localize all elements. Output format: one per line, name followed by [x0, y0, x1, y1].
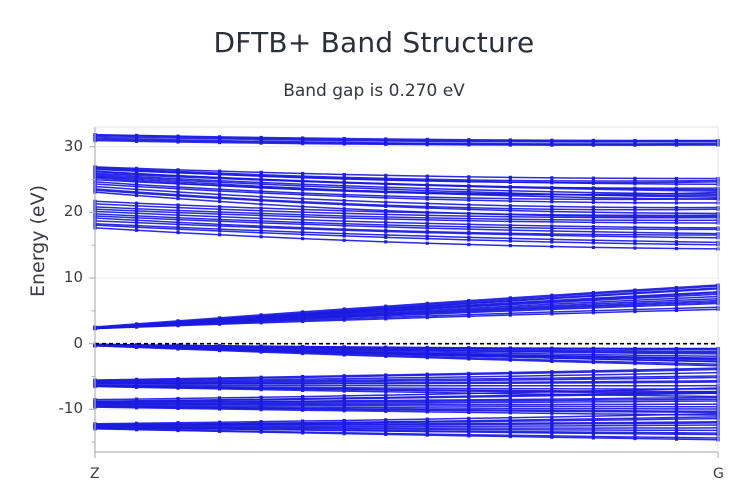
band-kpoint-marker [675, 367, 678, 370]
band-kpoint-marker [550, 198, 553, 201]
band-kpoint-marker [260, 225, 263, 228]
band-kpoint-marker [675, 187, 678, 190]
band-kpoint-marker [260, 195, 263, 198]
band-kpoint-marker [426, 393, 429, 396]
band-kpoint-marker [301, 191, 304, 194]
band-kpoint-marker [633, 397, 636, 400]
band-kpoint-marker [633, 214, 636, 217]
band-kpoint-marker [675, 372, 678, 375]
band-kpoint-marker [467, 206, 470, 209]
band-kpoint-marker [260, 217, 263, 220]
band-kpoint-marker [509, 237, 512, 240]
band-kpoint-marker [384, 373, 387, 376]
band-kpoint-marker [384, 204, 387, 207]
band-kpoint-marker [260, 376, 263, 379]
band-kpoint-marker [592, 186, 595, 189]
band-kpoint-marker [633, 347, 636, 350]
band-kpoint-marker [260, 229, 263, 232]
band-kpoint-marker [509, 207, 512, 210]
band-kpoint-marker [384, 182, 387, 185]
band-kpoint-marker [260, 190, 263, 193]
band-kpoint-marker [176, 174, 179, 177]
band-kpoint-marker [550, 213, 553, 216]
band-kpoint-marker [301, 345, 304, 348]
band-kpoint-marker [384, 186, 387, 189]
band-structure-figure: DFTB+ Band Structure Band gap is 0.270 e… [0, 0, 748, 500]
band-kpoint-marker [218, 193, 221, 196]
band-kpoint-marker [426, 222, 429, 225]
band-kpoint-marker [550, 294, 553, 297]
band-kpoint-marker [675, 384, 678, 387]
band-kpoint-marker [343, 346, 346, 349]
band-kpoint-marker [467, 188, 470, 191]
band-kpoint-marker [384, 305, 387, 308]
band-kpoint-marker [509, 394, 512, 397]
band-kpoint-marker [218, 184, 221, 187]
band-kpoint-marker [176, 197, 179, 200]
band-kpoint-marker [176, 344, 179, 347]
band-kpoint-marker [675, 231, 678, 234]
band-kpoint-marker [633, 288, 636, 291]
band-kpoint-marker [301, 208, 304, 211]
band-kpoint-marker [135, 397, 138, 400]
band-kpoint-marker [550, 224, 553, 227]
band-kpoint-marker [633, 435, 636, 438]
band-kpoint-marker [426, 418, 429, 421]
band-kpoint-marker [467, 196, 470, 199]
band-kpoint-marker [384, 201, 387, 204]
band-kpoint-marker [509, 189, 512, 192]
band-kpoint-marker [343, 209, 346, 212]
band-kpoint-marker [384, 177, 387, 180]
band-kpoint-marker [301, 197, 304, 200]
band-kpoint-marker [176, 221, 179, 224]
band-kpoint-marker [467, 243, 470, 246]
band-kpoint-marker [675, 307, 678, 310]
band-kpoint-marker [592, 397, 595, 400]
band-kpoint-marker [260, 186, 263, 189]
band-kpoint-marker [550, 370, 553, 373]
band-kpoint-marker [301, 205, 304, 208]
band-kpoint-marker [218, 205, 221, 208]
band-kpoint-marker [675, 436, 678, 439]
band-kpoint-marker [426, 235, 429, 238]
band-kpoint-marker [509, 138, 512, 141]
band-kpoint-marker [633, 239, 636, 242]
band-kpoint-marker [343, 193, 346, 196]
band-kpoint-marker [384, 210, 387, 213]
band-kpoint-marker [426, 230, 429, 233]
band-kpoint-marker [384, 137, 387, 140]
band-kpoint-marker [550, 190, 553, 193]
band-kpoint-marker [592, 435, 595, 438]
band-kpoint-marker [675, 396, 678, 399]
band-kpoint-marker [218, 135, 221, 138]
band-kpoint-marker [467, 184, 470, 187]
band-kpoint-marker [675, 413, 678, 416]
band-kpoint-marker [176, 182, 179, 185]
band-kpoint-marker [467, 203, 470, 206]
band-kpoint-marker [260, 198, 263, 201]
band-gap-subtitle: Band gap is 0.270 eV [0, 81, 748, 101]
band-kpoint-marker [426, 138, 429, 141]
band-kpoint-marker [509, 185, 512, 188]
band-kpoint-marker [675, 139, 678, 142]
y-tick-label: 0 [43, 334, 83, 352]
band-kpoint-marker [592, 376, 595, 379]
band-kpoint-marker [633, 177, 636, 180]
band-kpoint-marker [135, 322, 138, 325]
band-kpoint-marker [218, 376, 221, 379]
band-kpoint-marker [343, 394, 346, 397]
band-kpoint-marker [467, 192, 470, 195]
band-kpoint-marker [633, 417, 636, 420]
band-kpoint-marker [633, 380, 636, 383]
band-kpoint-marker [176, 135, 179, 138]
band-kpoint-marker [633, 139, 636, 142]
band-kpoint-marker [550, 179, 553, 182]
x-tick-label-g: G [713, 466, 724, 482]
band-kpoint-marker [260, 203, 263, 206]
band-kpoint-marker [218, 176, 221, 179]
band-kpoint-marker [509, 232, 512, 235]
band-kpoint-marker [509, 213, 512, 216]
band-kpoint-marker [592, 225, 595, 228]
band-kpoint-marker [218, 227, 221, 230]
band-kpoint-marker [135, 422, 138, 425]
band-kpoint-marker [135, 378, 138, 381]
band-kpoint-marker [467, 175, 470, 178]
band-kpoint-marker [343, 419, 346, 422]
y-tick-label: 30 [43, 137, 83, 155]
band-kpoint-marker [550, 393, 553, 396]
band-kpoint-marker [509, 347, 512, 350]
band-kpoint-marker [467, 398, 470, 401]
band-kpoint-marker [509, 179, 512, 182]
band-kpoint-marker [467, 231, 470, 234]
band-kpoint-marker [343, 374, 346, 377]
band-kpoint-marker [260, 313, 263, 316]
band-kpoint-marker [509, 224, 512, 227]
band-kpoint-marker [633, 388, 636, 391]
band-kpoint-marker [467, 223, 470, 226]
band-kpoint-marker [426, 175, 429, 178]
band-kpoint-marker [301, 310, 304, 313]
band-kpoint-marker [176, 397, 179, 400]
band-kpoint-marker [467, 299, 470, 302]
band-kpoint-marker [176, 421, 179, 424]
band-kpoint-marker [426, 373, 429, 376]
band-kpoint-marker [675, 391, 678, 394]
band-kpoint-marker [633, 392, 636, 395]
band-kpoint-marker [176, 231, 179, 234]
band-kpoint-marker [467, 392, 470, 395]
band-kpoint-marker [633, 201, 636, 204]
band-kpoint-marker [301, 188, 304, 191]
band-kpoint-marker [343, 202, 346, 205]
band-kpoint-marker [675, 347, 678, 350]
band-kpoint-marker [135, 179, 138, 182]
band-kpoint-marker [592, 239, 595, 242]
band-kpoint-marker [176, 319, 179, 322]
band-kpoint-marker [426, 211, 429, 214]
band-kpoint-marker [633, 226, 636, 229]
band-kpoint-marker [384, 191, 387, 194]
band-kpoint-marker [135, 207, 138, 210]
band-kpoint-marker [675, 387, 678, 390]
band-kpoint-marker [301, 218, 304, 221]
band-kpoint-marker [260, 136, 263, 139]
band-kpoint-marker [426, 178, 429, 181]
band-kpoint-marker [509, 416, 512, 419]
band-kpoint-marker [550, 390, 553, 393]
band-kpoint-marker [301, 231, 304, 234]
band-kpoint-marker [592, 417, 595, 420]
band-kpoint-marker [467, 212, 470, 215]
band-kpoint-marker [135, 202, 138, 205]
band-kpoint-marker [384, 418, 387, 421]
band-kpoint-marker [343, 181, 346, 184]
band-kpoint-marker [176, 377, 179, 380]
band-kpoint-marker [633, 198, 636, 201]
band-kpoint-marker [592, 373, 595, 376]
band-kpoint-marker [384, 240, 387, 243]
band-kpoint-marker [260, 178, 263, 181]
band-kpoint-marker [592, 230, 595, 233]
band-kpoint-marker [550, 176, 553, 179]
band-kpoint-marker [509, 391, 512, 394]
band-kpoint-marker [675, 226, 678, 229]
band-kpoint-marker [509, 204, 512, 207]
band-kpoint-marker [135, 224, 138, 227]
band-kpoint-marker [384, 233, 387, 236]
band-kpoint-marker [633, 246, 636, 249]
band-kpoint-marker [301, 419, 304, 422]
band-kpoint-marker [675, 375, 678, 378]
band-kpoint-marker [509, 296, 512, 299]
band-kpoint-marker [550, 245, 553, 248]
band-kpoint-marker [218, 210, 221, 213]
band-kpoint-marker [343, 190, 346, 193]
band-kpoint-marker [550, 232, 553, 235]
band-kpoint-marker [426, 192, 429, 195]
plot-canvas [0, 0, 748, 500]
band-kpoint-marker [675, 192, 678, 195]
band-kpoint-marker [384, 221, 387, 224]
band-kpoint-marker [135, 229, 138, 232]
band-kpoint-marker [675, 421, 678, 424]
y-tick-label: 20 [43, 202, 83, 220]
band-kpoint-marker [301, 136, 304, 139]
band-kpoint-marker [384, 174, 387, 177]
band-kpoint-marker [633, 187, 636, 190]
band-kpoint-marker [343, 228, 346, 231]
band-kpoint-marker [509, 371, 512, 374]
band-kpoint-marker [550, 397, 553, 400]
band-kpoint-marker [550, 205, 553, 208]
band-kpoint-marker [218, 188, 221, 191]
band-kpoint-marker [426, 242, 429, 245]
band-kpoint-marker [592, 369, 595, 372]
band-line [95, 385, 718, 386]
band-kpoint-marker [675, 201, 678, 204]
band-kpoint-marker [675, 286, 678, 289]
band-kpoint-marker [343, 173, 346, 176]
band-kpoint-marker [675, 379, 678, 382]
band-kpoint-marker [509, 244, 512, 247]
band-kpoint-marker [467, 138, 470, 141]
band-kpoint-marker [218, 396, 221, 399]
band-kpoint-marker [218, 223, 221, 226]
band-kpoint-marker [301, 172, 304, 175]
band-kpoint-marker [675, 177, 678, 180]
x-tick-label-z: Z [90, 466, 100, 482]
band-kpoint-marker [343, 137, 346, 140]
band-kpoint-marker [509, 197, 512, 200]
band-kpoint-marker [426, 205, 429, 208]
band-kpoint-marker [509, 193, 512, 196]
band-kpoint-marker [592, 415, 595, 418]
band-kpoint-marker [592, 291, 595, 294]
band-kpoint-marker [550, 415, 553, 418]
band-kpoint-marker [135, 188, 138, 191]
band-kpoint-marker [176, 203, 179, 206]
band-kpoint-marker [675, 403, 678, 406]
band-kpoint-marker [343, 199, 346, 202]
band-kpoint-marker [633, 206, 636, 209]
band-kpoint-marker [550, 193, 553, 196]
band-kpoint-marker [675, 247, 678, 250]
band-kpoint-marker [301, 226, 304, 229]
band-kpoint-marker [218, 200, 221, 203]
band-kpoint-marker [176, 209, 179, 212]
band-kpoint-marker [260, 420, 263, 423]
band-kpoint-marker [384, 346, 387, 349]
band-kpoint-marker [592, 177, 595, 180]
band-kpoint-marker [509, 176, 512, 179]
band-kpoint-marker [176, 226, 179, 229]
band-kpoint-marker [592, 193, 595, 196]
band-kpoint-marker [550, 229, 553, 232]
band-kpoint-marker [592, 347, 595, 350]
band-kpoint-marker [675, 206, 678, 209]
band-kpoint-marker [176, 193, 179, 196]
band-kpoint-marker [218, 196, 221, 199]
band-kpoint-marker [633, 193, 636, 196]
band-kpoint-marker [260, 207, 263, 210]
band-kpoint-marker [467, 347, 470, 350]
band-kpoint-marker [550, 387, 553, 390]
band-kpoint-marker [675, 416, 678, 419]
band-kpoint-marker [218, 345, 221, 348]
band-kpoint-marker [675, 240, 678, 243]
band-kpoint-marker [343, 239, 346, 242]
band-kpoint-marker [426, 184, 429, 187]
band-kpoint-marker [426, 346, 429, 349]
band-kpoint-marker [592, 213, 595, 216]
band-kpoint-marker [633, 231, 636, 234]
band-kpoint-marker [550, 238, 553, 241]
band-kpoint-marker [301, 237, 304, 240]
band-kpoint-marker [633, 375, 636, 378]
band-kpoint-marker [509, 398, 512, 401]
band-kpoint-marker [509, 387, 512, 390]
band-kpoint-marker [343, 176, 346, 179]
band-kpoint-marker [592, 392, 595, 395]
band-kpoint-marker [343, 232, 346, 235]
band-kpoint-marker [176, 190, 179, 193]
band-kpoint-marker [301, 395, 304, 398]
band-kpoint-marker [633, 308, 636, 311]
band-kpoint-marker [218, 316, 221, 319]
band-kpoint-marker [633, 384, 636, 387]
band-kpoint-marker [301, 375, 304, 378]
band-kpoint-marker [509, 434, 512, 437]
band-kpoint-marker [135, 134, 138, 137]
y-tick-label: -10 [43, 399, 83, 417]
band-kpoint-marker [592, 198, 595, 201]
band-kpoint-marker [592, 384, 595, 387]
band-kpoint-marker [592, 179, 595, 182]
band-kpoint-marker [176, 168, 179, 171]
band-kpoint-marker [135, 167, 138, 170]
band-kpoint-marker [550, 139, 553, 142]
band-kpoint-marker [592, 205, 595, 208]
band-kpoint-marker [426, 196, 429, 199]
band-kpoint-marker [592, 201, 595, 204]
band-kpoint-marker [467, 236, 470, 239]
band-kpoint-marker [633, 403, 636, 406]
band-kpoint-marker [550, 347, 553, 350]
band-kpoint-marker [218, 233, 221, 236]
y-tick-label: 10 [43, 268, 83, 286]
band-kpoint-marker [343, 184, 346, 187]
band-kpoint-marker [467, 178, 470, 181]
page-title: DFTB+ Band Structure [0, 26, 748, 59]
band-kpoint-marker [343, 220, 346, 223]
band-kpoint-marker [426, 187, 429, 190]
band-kpoint-marker [218, 421, 221, 424]
band-kpoint-marker [633, 414, 636, 417]
band-kpoint-marker [260, 235, 263, 238]
band-kpoint-marker [550, 434, 553, 437]
band-kpoint-marker [218, 170, 221, 173]
band-kpoint-marker [550, 384, 553, 387]
band-kpoint-marker [467, 417, 470, 420]
band-kpoint-marker [426, 302, 429, 305]
band-kpoint-marker [384, 194, 387, 197]
band-kpoint-marker [384, 229, 387, 232]
band-kpoint-marker [675, 214, 678, 217]
band-kpoint-marker [592, 246, 595, 249]
band-kpoint-marker [633, 368, 636, 371]
band-kpoint-marker [633, 373, 636, 376]
band-kpoint-marker [384, 394, 387, 397]
band-kpoint-marker [675, 198, 678, 201]
band-kpoint-marker [550, 186, 553, 189]
band-kpoint-marker [467, 372, 470, 375]
band-kpoint-marker [260, 345, 263, 348]
band-kpoint-marker [260, 171, 263, 174]
band-kpoint-marker [260, 396, 263, 399]
y-axis-label: Energy (eV) [27, 141, 49, 341]
band-kpoint-marker [426, 202, 429, 205]
band-kpoint-marker [592, 389, 595, 392]
band-kpoint-marker [301, 200, 304, 203]
band-kpoint-marker [592, 309, 595, 312]
band-kpoint-marker [176, 185, 179, 188]
band-kpoint-marker [343, 307, 346, 310]
